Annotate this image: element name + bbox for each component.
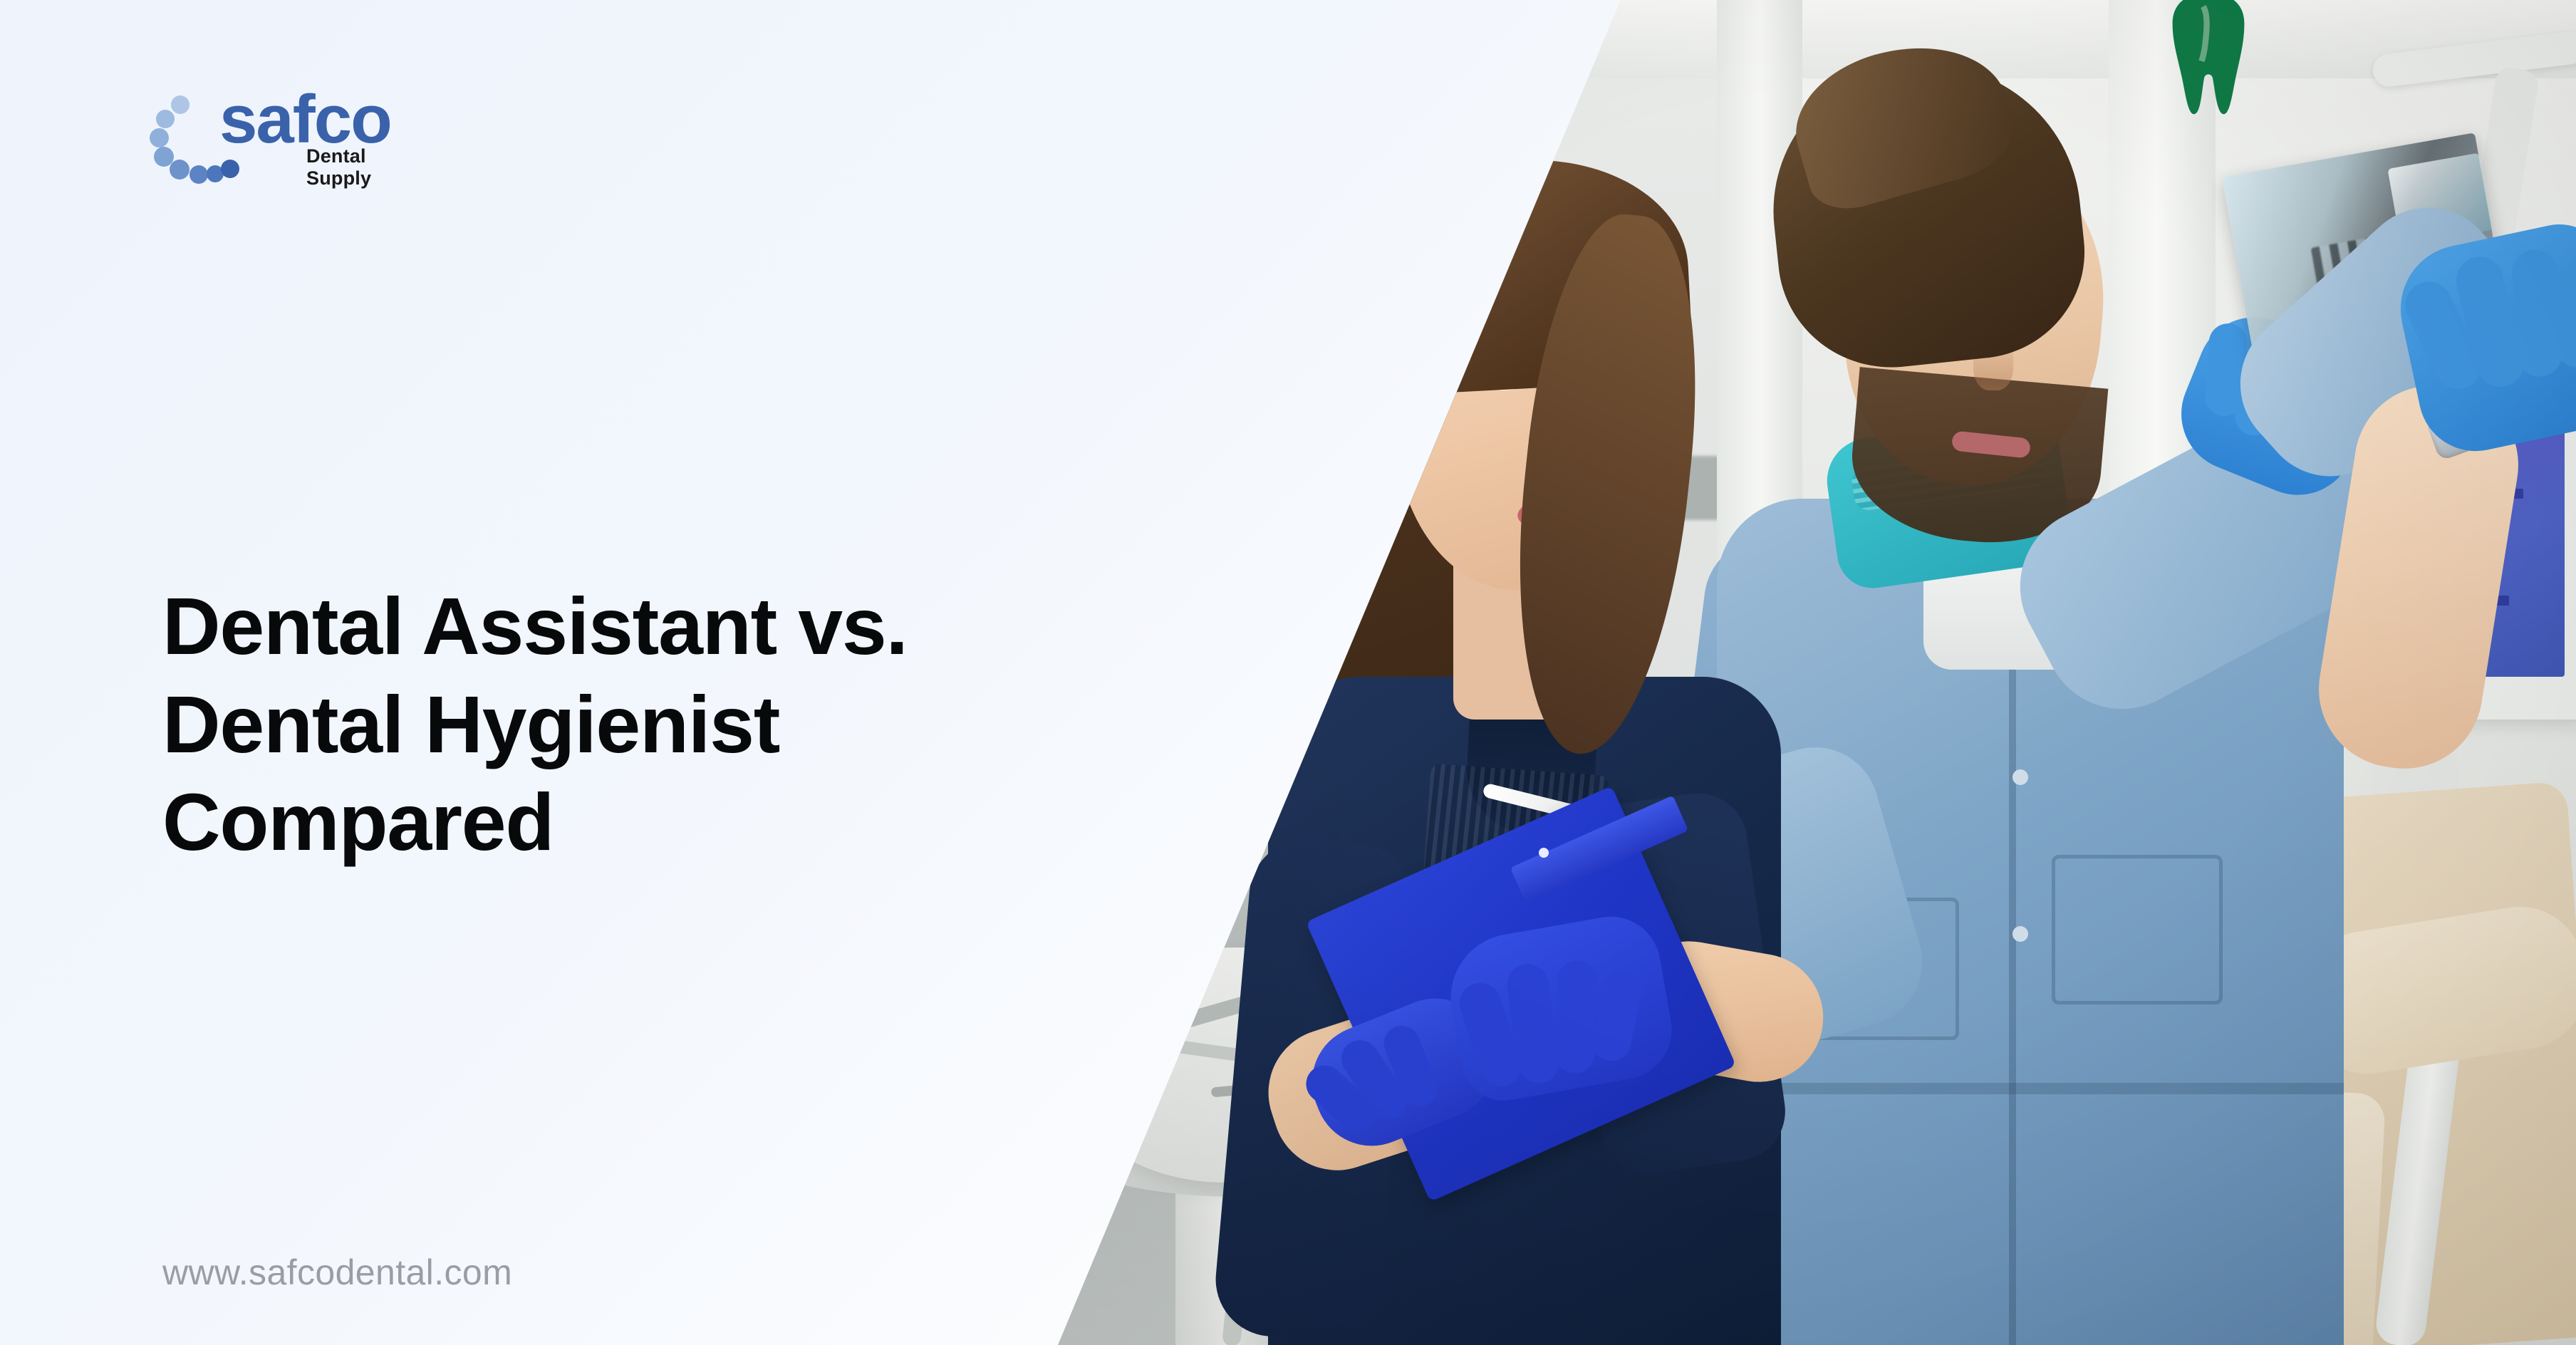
brand-logo[interactable]: safco Dental Supply [142, 94, 378, 172]
banner-canvas: safco Dental Supply Dental Assistant vs.… [0, 0, 2576, 1345]
headline-line-1: Dental Assistant vs. [162, 578, 1039, 676]
headline-line-2: Dental Hygienist [162, 676, 1039, 774]
logo-dots-icon [142, 94, 228, 172]
logo-wordmark: safco [219, 85, 391, 154]
website-url[interactable]: www.safcodental.com [162, 1252, 512, 1293]
photo-vignette [997, 0, 2576, 1345]
headline-line-3: Compared [162, 774, 1039, 872]
page-title: Dental Assistant vs. Dental Hygienist Co… [162, 578, 1039, 873]
assistant-ear [1396, 399, 1436, 463]
hero-photo [997, 0, 2576, 1345]
logo-tagline: Dental Supply [306, 145, 378, 189]
